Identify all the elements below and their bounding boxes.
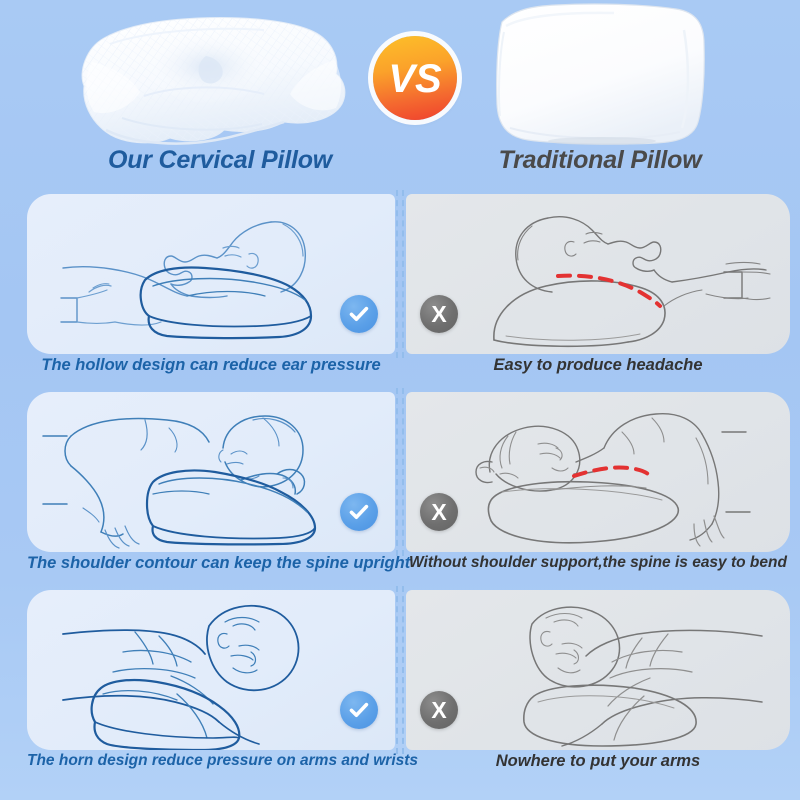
check-badge (340, 691, 378, 729)
warning-spine-line (574, 467, 648, 476)
caption-left-horn-design: The horn design reduce pressure on arms … (27, 752, 395, 770)
x-badge: X (420, 691, 458, 729)
x-icon: X (431, 501, 446, 524)
product-image-traditional-pillow (484, 0, 716, 148)
illustration-back-sleeper-cervical (27, 194, 395, 354)
hero-title-our-pillow: Our Cervical Pillow (60, 146, 380, 175)
caption-right-nowhere-arms: Nowhere to put your arms (406, 752, 790, 771)
illustration-side-sleeper-no-shoulder-support (406, 392, 790, 552)
panel-divider-line-a (396, 586, 398, 754)
illustration-side-sleeper-arms-cramped (406, 590, 790, 750)
panel-divider-line-b (402, 586, 404, 754)
hero-section: VS Our Cervical Pillow Traditional Pillo… (0, 0, 800, 188)
x-icon: X (431, 699, 446, 722)
x-badge: X (420, 493, 458, 531)
comparison-row-arm-placement: X The horn design reduce pressure on arm… (0, 584, 800, 782)
caption-right-spine-bend: Without shoulder support,the spine is ea… (406, 554, 790, 572)
vs-label-glyph: VS (387, 55, 443, 101)
comparison-row-ear-pressure: X The hollow design can reduce ear press… (0, 188, 800, 386)
vs-text: VS (388, 57, 442, 101)
check-icon (347, 500, 371, 524)
illustration-back-sleeper-traditional (406, 194, 790, 354)
comparison-rows: X The hollow design can reduce ear press… (0, 188, 800, 782)
illustration-side-sleeper-shoulder-contour (27, 392, 395, 552)
x-badge: X (420, 295, 458, 333)
caption-left-ear-pressure: The hollow design can reduce ear pressur… (27, 356, 395, 375)
illustration-side-sleeper-horn-design (27, 590, 395, 750)
check-icon (347, 302, 371, 326)
panel-divider-line-b (402, 388, 404, 556)
caption-left-spine-upright: The shoulder contour can keep the spine … (27, 554, 395, 573)
caption-right-headache: Easy to produce headache (406, 356, 790, 375)
check-icon (347, 698, 371, 722)
panel-divider-line-a (396, 190, 398, 358)
panel-divider-line-a (396, 388, 398, 556)
vs-badge: VS (373, 36, 457, 120)
product-image-cervical-pillow (48, 0, 368, 148)
panel-divider-line-b (402, 190, 404, 358)
check-badge (340, 295, 378, 333)
warning-spine-line (558, 276, 660, 306)
check-badge (340, 493, 378, 531)
x-icon: X (431, 303, 446, 326)
comparison-row-spine-alignment: X The shoulder contour can keep the spin… (0, 386, 800, 584)
hero-title-traditional-pillow: Traditional Pillow (470, 146, 730, 175)
